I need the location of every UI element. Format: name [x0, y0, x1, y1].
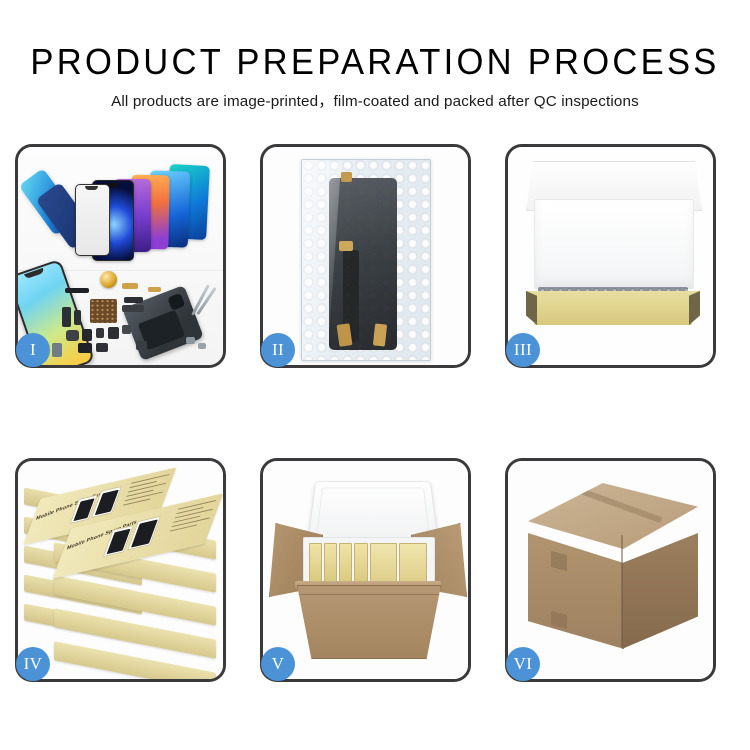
connector-tab-icon [341, 172, 352, 182]
carton-edge [621, 535, 623, 647]
page-subtitle: All products are image-printed，film-coat… [0, 82, 750, 111]
wrapped-part-icon [329, 178, 397, 350]
component-icon [74, 310, 81, 325]
box-stack-icon: Mobile Phone Spare Parts Mobile Phone Sp… [24, 477, 222, 667]
box-side-left-icon [526, 291, 537, 325]
component-icon [96, 328, 104, 338]
step-5-image [263, 461, 468, 679]
carton-face-left-icon [528, 533, 624, 649]
process-step-grid: I II [15, 144, 735, 736]
packed-box [354, 543, 367, 585]
step-badge-5: V [261, 647, 295, 681]
gold-contact-icon [373, 323, 387, 346]
packed-box [370, 543, 398, 585]
component-icon [124, 297, 143, 303]
packed-box [339, 543, 352, 585]
step-2-image [263, 147, 468, 365]
box-side-right-icon [689, 291, 700, 325]
packed-boxes-icon [309, 543, 427, 585]
step-3-image [508, 147, 713, 365]
phone-glass-icon [75, 184, 110, 256]
carton-top-icon [528, 483, 698, 549]
step-panel-4[interactable]: Mobile Phone Spare Parts Mobile Phone Sp… [15, 458, 226, 682]
step-panel-5[interactable]: V [260, 458, 471, 682]
bubble-wrap-bag-icon [301, 159, 431, 361]
packed-box [399, 543, 427, 585]
white-foam-icon [534, 199, 694, 289]
component-icon [62, 307, 71, 327]
carton-face-right-icon [622, 533, 698, 649]
packed-box [324, 543, 337, 585]
step-panel-6[interactable]: VI [505, 458, 716, 682]
component-icon [122, 283, 138, 289]
step-1-image [18, 147, 223, 365]
packed-box [309, 543, 322, 585]
component-icon [108, 327, 119, 339]
component-icon [186, 337, 195, 344]
component-icon [82, 329, 92, 341]
component-icon [66, 330, 79, 341]
step-badge-6: VI [506, 647, 540, 681]
step-badge-1: I [16, 333, 50, 367]
chip-grid-icon [90, 299, 117, 323]
page-title: PRODUCT PREPARATION PROCESS [15, 0, 735, 82]
lid-text-lines [167, 500, 216, 539]
step-6-image [508, 461, 713, 679]
kraft-box-front-icon [526, 291, 700, 325]
lid-window-icon [91, 486, 122, 518]
carton-tape-icon [571, 485, 662, 523]
infographic-page: PRODUCT PREPARATION PROCESS All products… [0, 0, 750, 750]
carton-body-icon [297, 585, 441, 659]
gold-contact-icon [339, 241, 353, 251]
camera-module-icon [167, 293, 185, 311]
step-badge-4: IV [16, 647, 50, 681]
component-icon [198, 343, 206, 349]
component-icon [148, 287, 161, 292]
component-icon [136, 341, 147, 350]
step-badge-3: III [506, 333, 540, 367]
component-icon [78, 343, 92, 353]
component-icon [96, 343, 108, 352]
header: PRODUCT PREPARATION PROCESS All products… [0, 0, 750, 111]
component-icon [122, 305, 144, 312]
step-panel-3[interactable]: III [505, 144, 716, 368]
component-icon [65, 288, 89, 293]
component-icon [122, 325, 131, 334]
step-badge-2: II [261, 333, 295, 367]
gold-coil-icon [100, 271, 117, 288]
step-panel-1[interactable]: I [15, 144, 226, 368]
step-4-image: Mobile Phone Spare Parts Mobile Phone Sp… [18, 461, 223, 679]
carton-seam [298, 594, 440, 595]
step-panel-2[interactable]: II [260, 144, 471, 368]
component-icon [52, 343, 62, 357]
